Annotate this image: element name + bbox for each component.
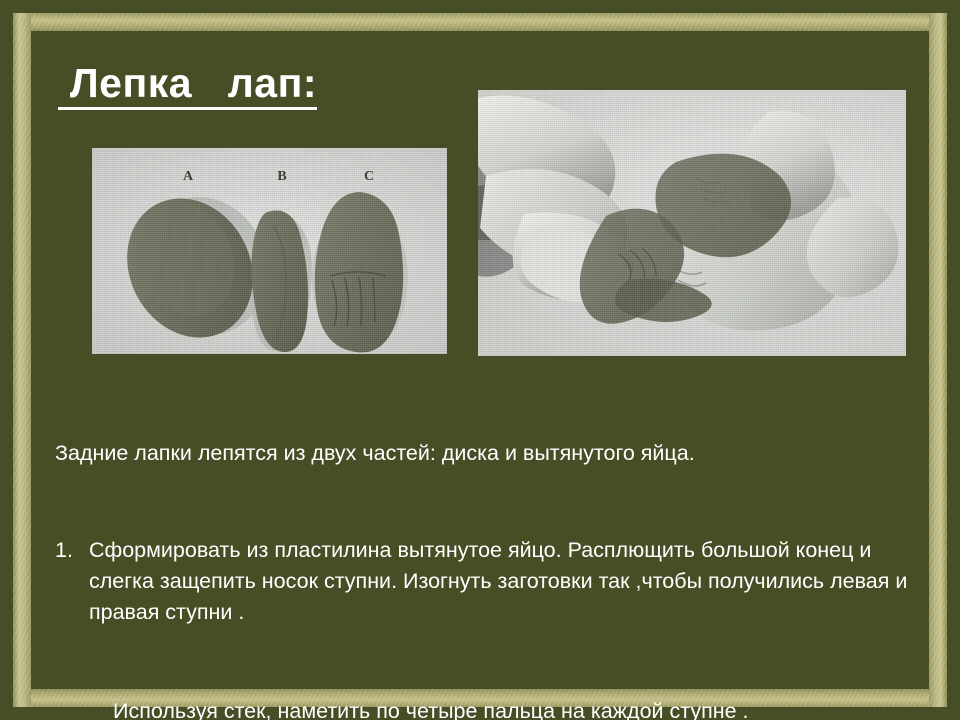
- frame-band-left: [13, 13, 31, 707]
- svg-text:A: A: [183, 169, 194, 184]
- right-photo-svg: [478, 90, 906, 356]
- slide-title: Лепка лап:: [58, 62, 317, 110]
- list-item-1-text: Сформировать из пластилина вытянутое яйц…: [89, 538, 913, 624]
- body-sub-paragraph: Используя стек, наметить по четыре пальц…: [55, 696, 915, 720]
- list-number-1: 1.: [55, 535, 89, 566]
- image-hands-shaping-clay: [478, 90, 906, 356]
- frame-hatch-right: [929, 13, 947, 707]
- frame-band-right: [929, 13, 947, 707]
- slide-body: Задние лапки лепятся из двух частей: дис…: [55, 376, 915, 720]
- svg-text:B: B: [277, 169, 286, 184]
- presentation-slide: Лепка лап:: [0, 0, 960, 720]
- svg-text:C: C: [364, 169, 374, 184]
- body-lead-paragraph: Задние лапки лепятся из двух частей: дис…: [55, 438, 915, 469]
- body-list-item-1: 1.Сформировать из пластилина вытянутое я…: [55, 535, 915, 628]
- image-three-clay-shapes: A B C: [92, 148, 447, 354]
- left-photo-svg: A B C: [92, 148, 447, 354]
- frame-hatch-left: [13, 13, 31, 707]
- frame-hatch-top: [13, 13, 947, 31]
- frame-band-top: [13, 13, 947, 31]
